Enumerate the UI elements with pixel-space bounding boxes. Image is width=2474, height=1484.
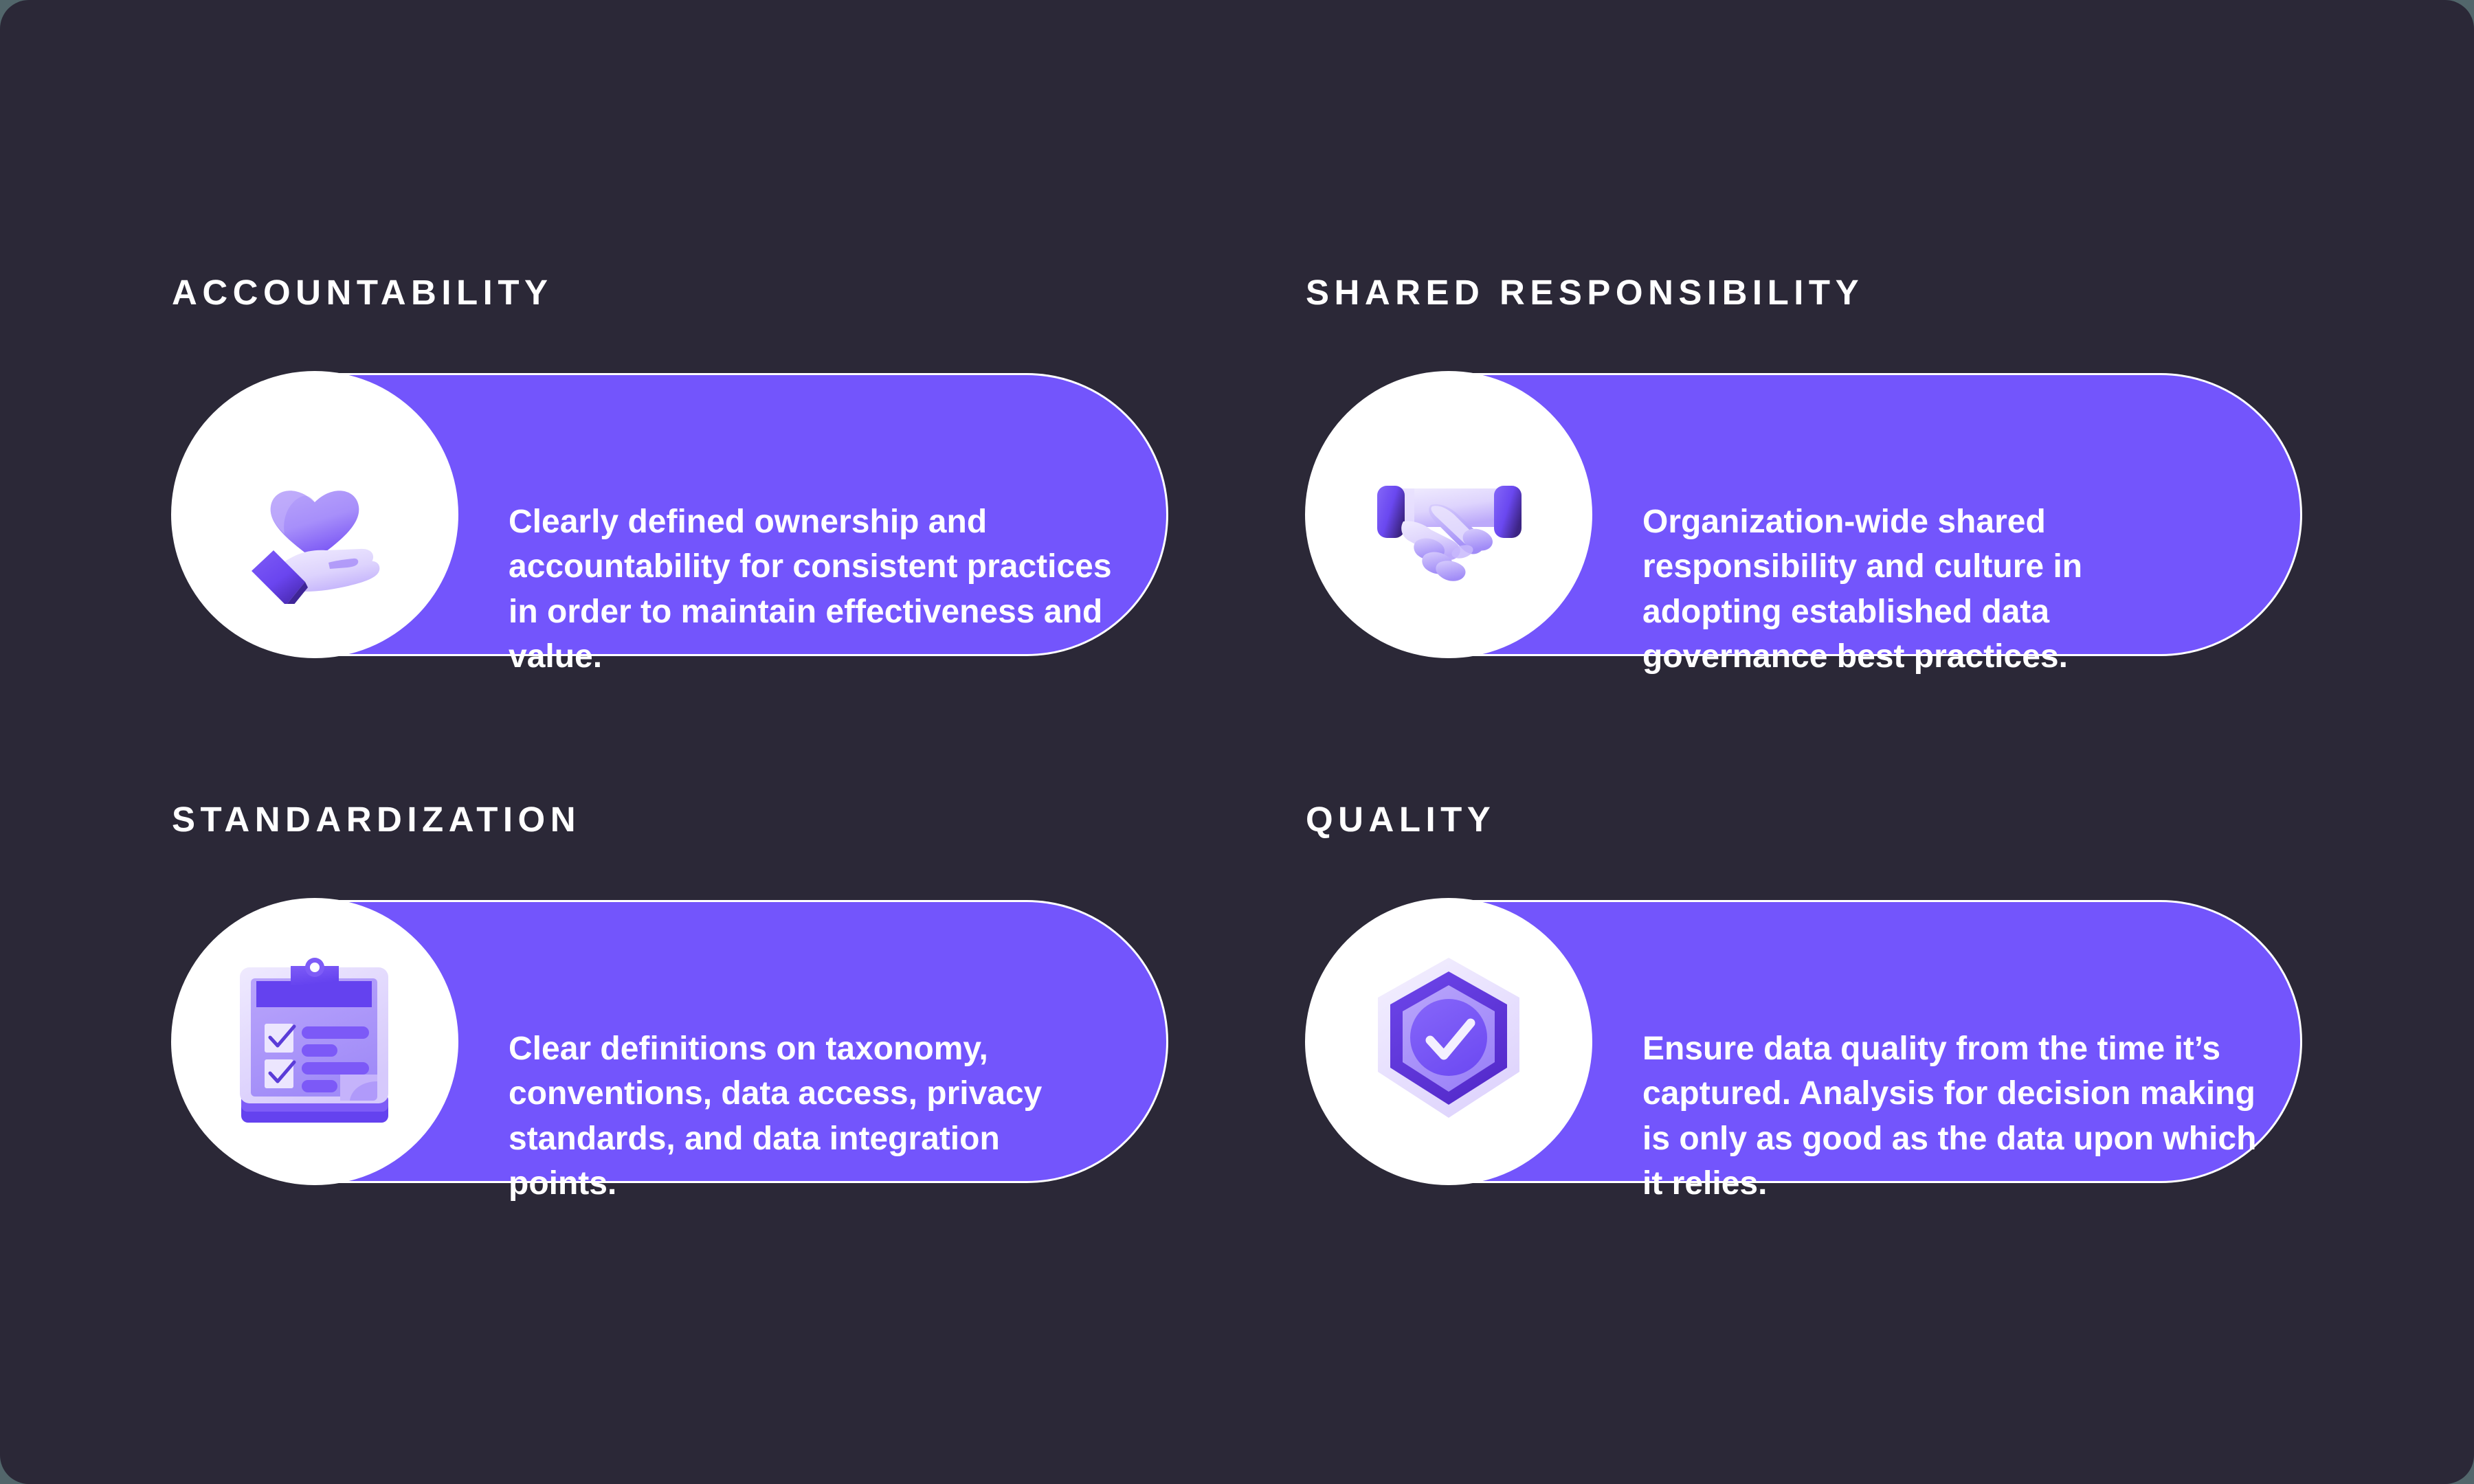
card-shared-responsibility: SHARED RESPONSIBILITY Organization-wide … [1306, 275, 2302, 687]
clipboard-checklist-icon [236, 952, 394, 1131]
hand-holding-heart-icon [225, 425, 404, 604]
shield-check-icon [1363, 951, 1535, 1133]
card-quality: QUALITY Ensure data quality from the tim… [1306, 802, 2302, 1214]
card-heading: ACCOUNTABILITY [172, 275, 553, 310]
infographic-panel: ACCOUNTABILITY Clearly defined ownership… [0, 0, 2474, 1484]
icon-disc [171, 898, 458, 1185]
icon-disc [1305, 371, 1592, 658]
card-heading: SHARED RESPONSIBILITY [1306, 275, 1864, 310]
icon-disc [171, 371, 458, 658]
card-standardization: STANDARDIZATION Clear definitions on tax… [172, 802, 1168, 1214]
card-heading: QUALITY [1306, 802, 1495, 837]
card-body-text: Organization-wide shared responsibility … [1642, 499, 2213, 679]
card-body-text: Clearly defined ownership and accountabi… [509, 499, 1113, 679]
icon-disc [1305, 898, 1592, 1185]
card-heading: STANDARDIZATION [172, 802, 581, 837]
card-body-text: Clear definitions on taxonomy, conventio… [509, 1026, 1113, 1206]
handshake-icon [1359, 425, 1538, 604]
card-accountability: ACCOUNTABILITY Clearly defined ownership… [172, 275, 1168, 687]
card-body-text: Ensure data quality from the time it’s c… [1642, 1026, 2264, 1206]
